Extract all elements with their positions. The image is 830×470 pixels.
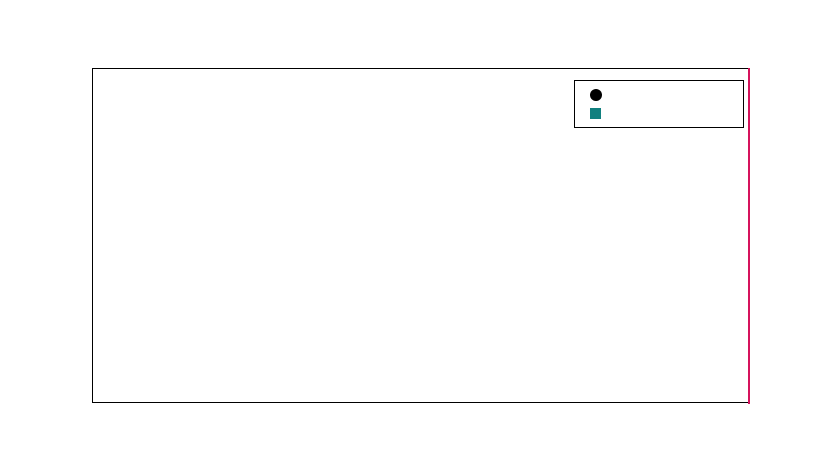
legend-swatch-bias [579, 106, 615, 122]
filled-circle-icon [590, 89, 602, 101]
y-axis-right-spine [748, 68, 750, 404]
plot-root [0, 0, 830, 470]
filled-square-icon [590, 108, 601, 119]
legend-item-bias [579, 104, 738, 123]
legend-item-rmse [579, 85, 738, 104]
legend-swatch-rmse [579, 87, 615, 103]
legend [574, 80, 744, 128]
